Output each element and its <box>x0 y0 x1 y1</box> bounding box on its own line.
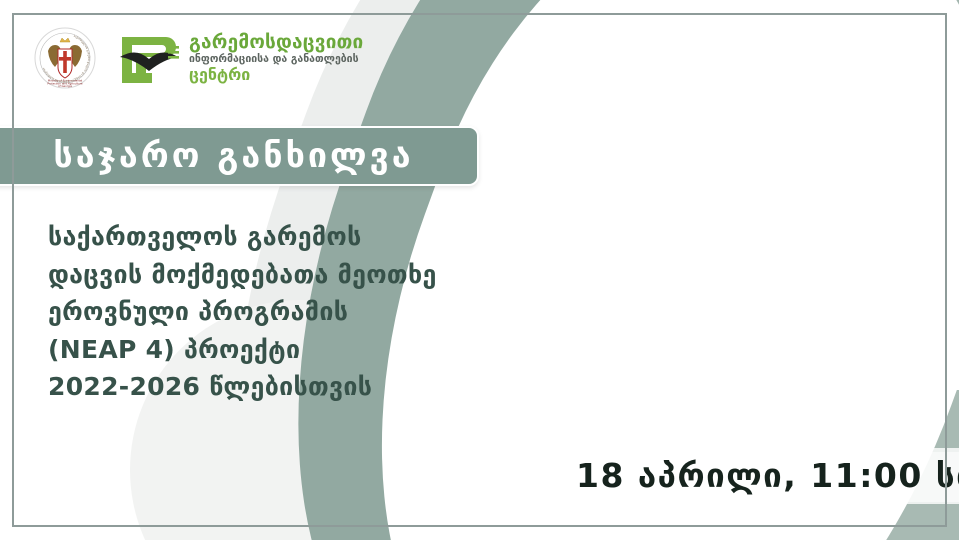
poster-canvas: 18 აპრილი, 11:00 სთ საჯარო განხილვა საქა… <box>0 0 959 540</box>
logo-line-1: გარემოსდაცვითი <box>189 33 363 52</box>
announcement-body-text: საქართველოს გარემოს დაცვის მოქმედებათა მ… <box>48 218 468 406</box>
svg-text:of Georgia: of Georgia <box>58 84 72 88</box>
body-line-1: საქართველოს გარემოს <box>48 218 468 256</box>
georgia-coat-of-arms-icon: Ministry of Environmental Protection and… <box>34 27 96 89</box>
environmental-information-and-education-centre-logo: გარემოსდაცვითი ინფორმაციისა და განათლები… <box>118 29 363 87</box>
open-book-in-square-icon <box>118 29 180 87</box>
logo-row: Ministry of Environmental Protection and… <box>34 27 363 89</box>
title-banner: საჯარო განხილვა <box>0 126 479 186</box>
body-line-4: (NEAP 4) პროექტი <box>48 331 468 369</box>
body-line-3: ეროვნული პროგრამის <box>48 293 468 331</box>
body-line-2: დაცვის მოქმედებათა მეოთხე <box>48 256 468 294</box>
logo-line-3: ცენტრი <box>189 67 363 83</box>
event-date-text: 18 აპრილი, 11:00 სთ <box>576 456 959 495</box>
title-banner-text: საჯარო განხილვა <box>53 136 413 176</box>
body-line-5: 2022-2026 წლებისთვის <box>48 368 468 406</box>
event-date-chip: 18 აპრილი, 11:00 სთ <box>560 452 959 502</box>
logo-line-2: ინფორმაციისა და განათლების <box>189 54 363 65</box>
